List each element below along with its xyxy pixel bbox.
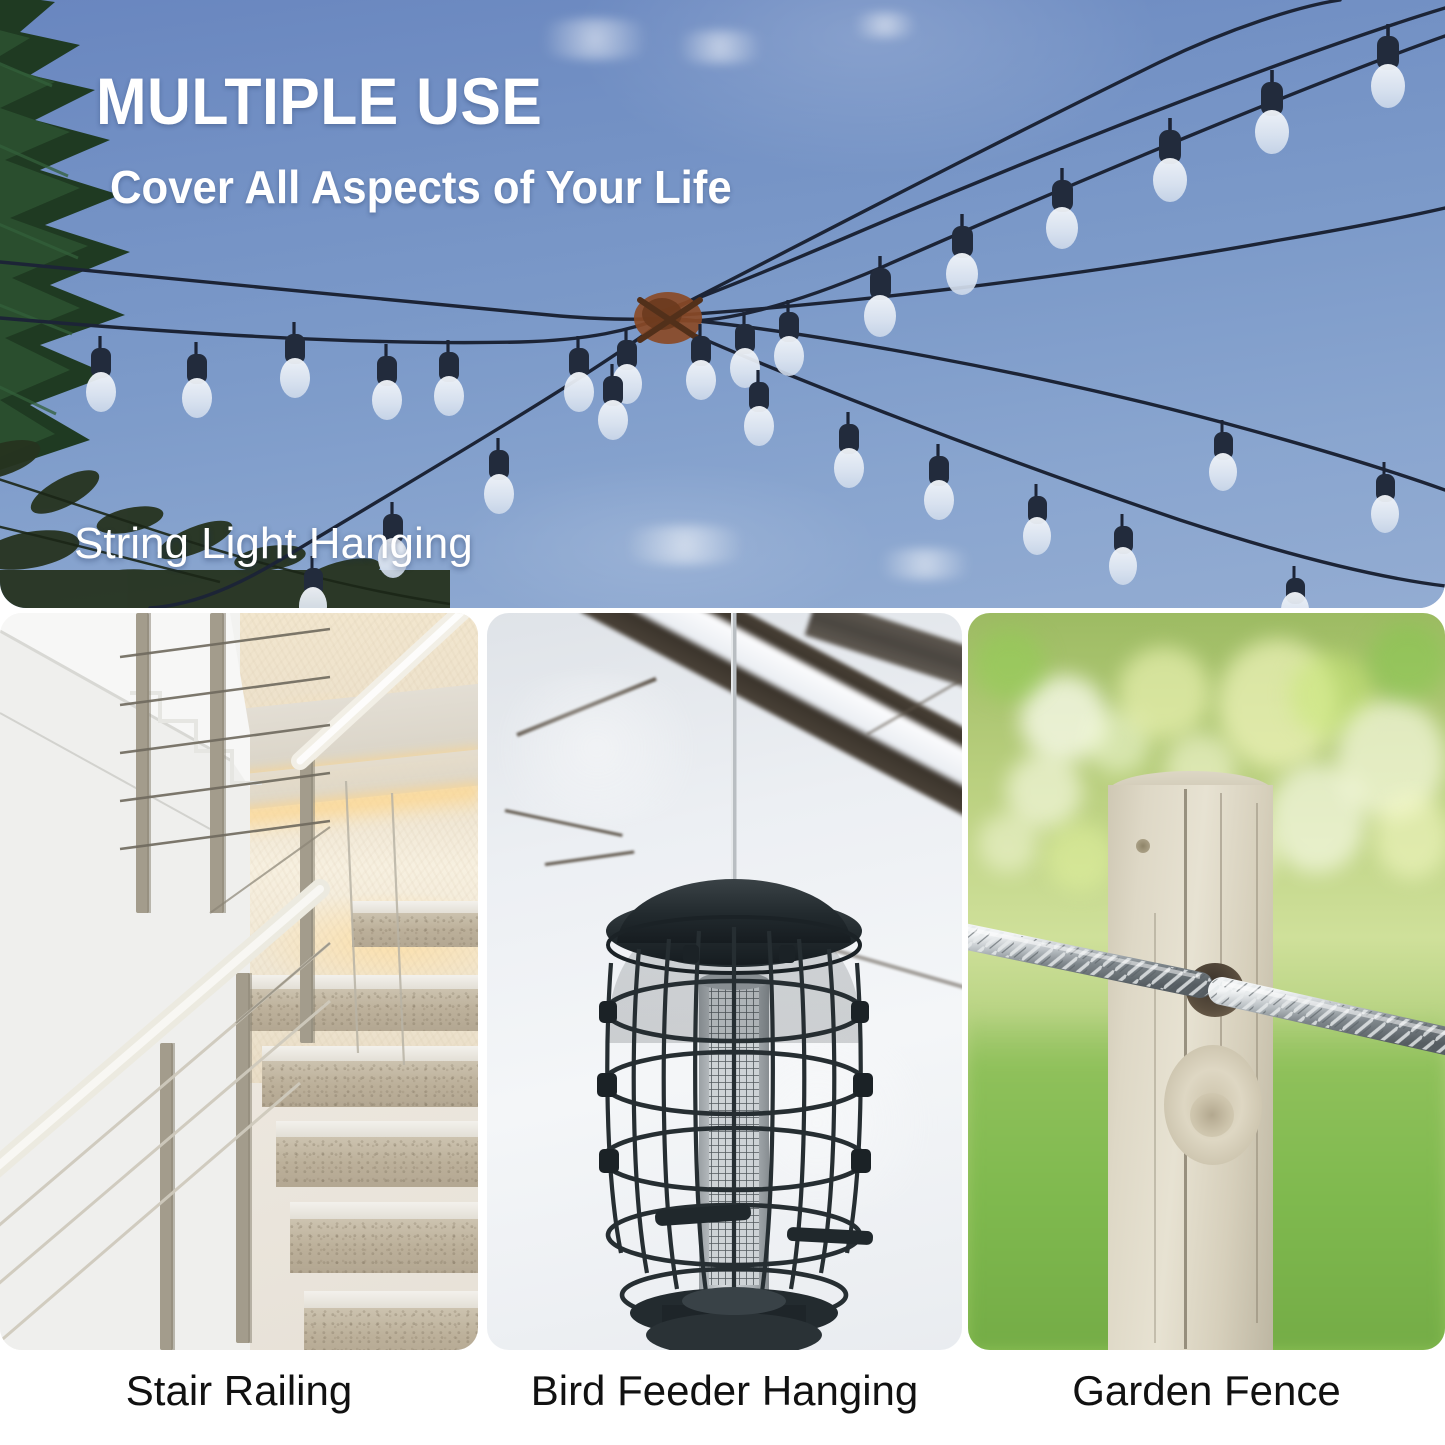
panel-bird-feeder	[487, 613, 962, 1350]
hero-subtitle: Cover All Aspects of Your Life	[110, 164, 732, 210]
hero-title: MULTIPLE USE	[96, 68, 542, 134]
cable-left-segment	[968, 927, 1200, 985]
infographic-page: MULTIPLE USE Cover All Aspects of Your L…	[0, 0, 1445, 1445]
cloud-wisp	[600, 525, 770, 565]
cloud-wisp	[520, 18, 670, 60]
caption-row: Stair Railing Bird Feeder Hanging Garden…	[0, 1352, 1445, 1445]
cable-right-segment	[1222, 983, 1445, 1043]
caption-bird-feeder: Bird Feeder Hanging	[487, 1352, 962, 1445]
cloud-wisp	[860, 548, 990, 580]
caption-garden-fence: Garden Fence	[968, 1352, 1445, 1445]
panel-garden-fence	[968, 613, 1445, 1350]
steel-cable	[968, 613, 1445, 1350]
use-case-panels	[0, 613, 1445, 1350]
caged-bird-feeder-icon	[487, 613, 962, 1350]
hero-panel-string-lights: MULTIPLE USE Cover All Aspects of Your L…	[0, 0, 1445, 608]
hero-scene-caption: String Light Hanging	[74, 522, 473, 566]
panel-stair-railing	[0, 613, 478, 1350]
cloud-wisp	[660, 30, 780, 64]
cloud-wisp	[840, 12, 930, 38]
cable-railing	[0, 613, 478, 1350]
caption-stair-railing: Stair Railing	[0, 1352, 478, 1445]
hanging-cable	[724, 613, 744, 922]
feeder-base	[630, 1287, 838, 1350]
